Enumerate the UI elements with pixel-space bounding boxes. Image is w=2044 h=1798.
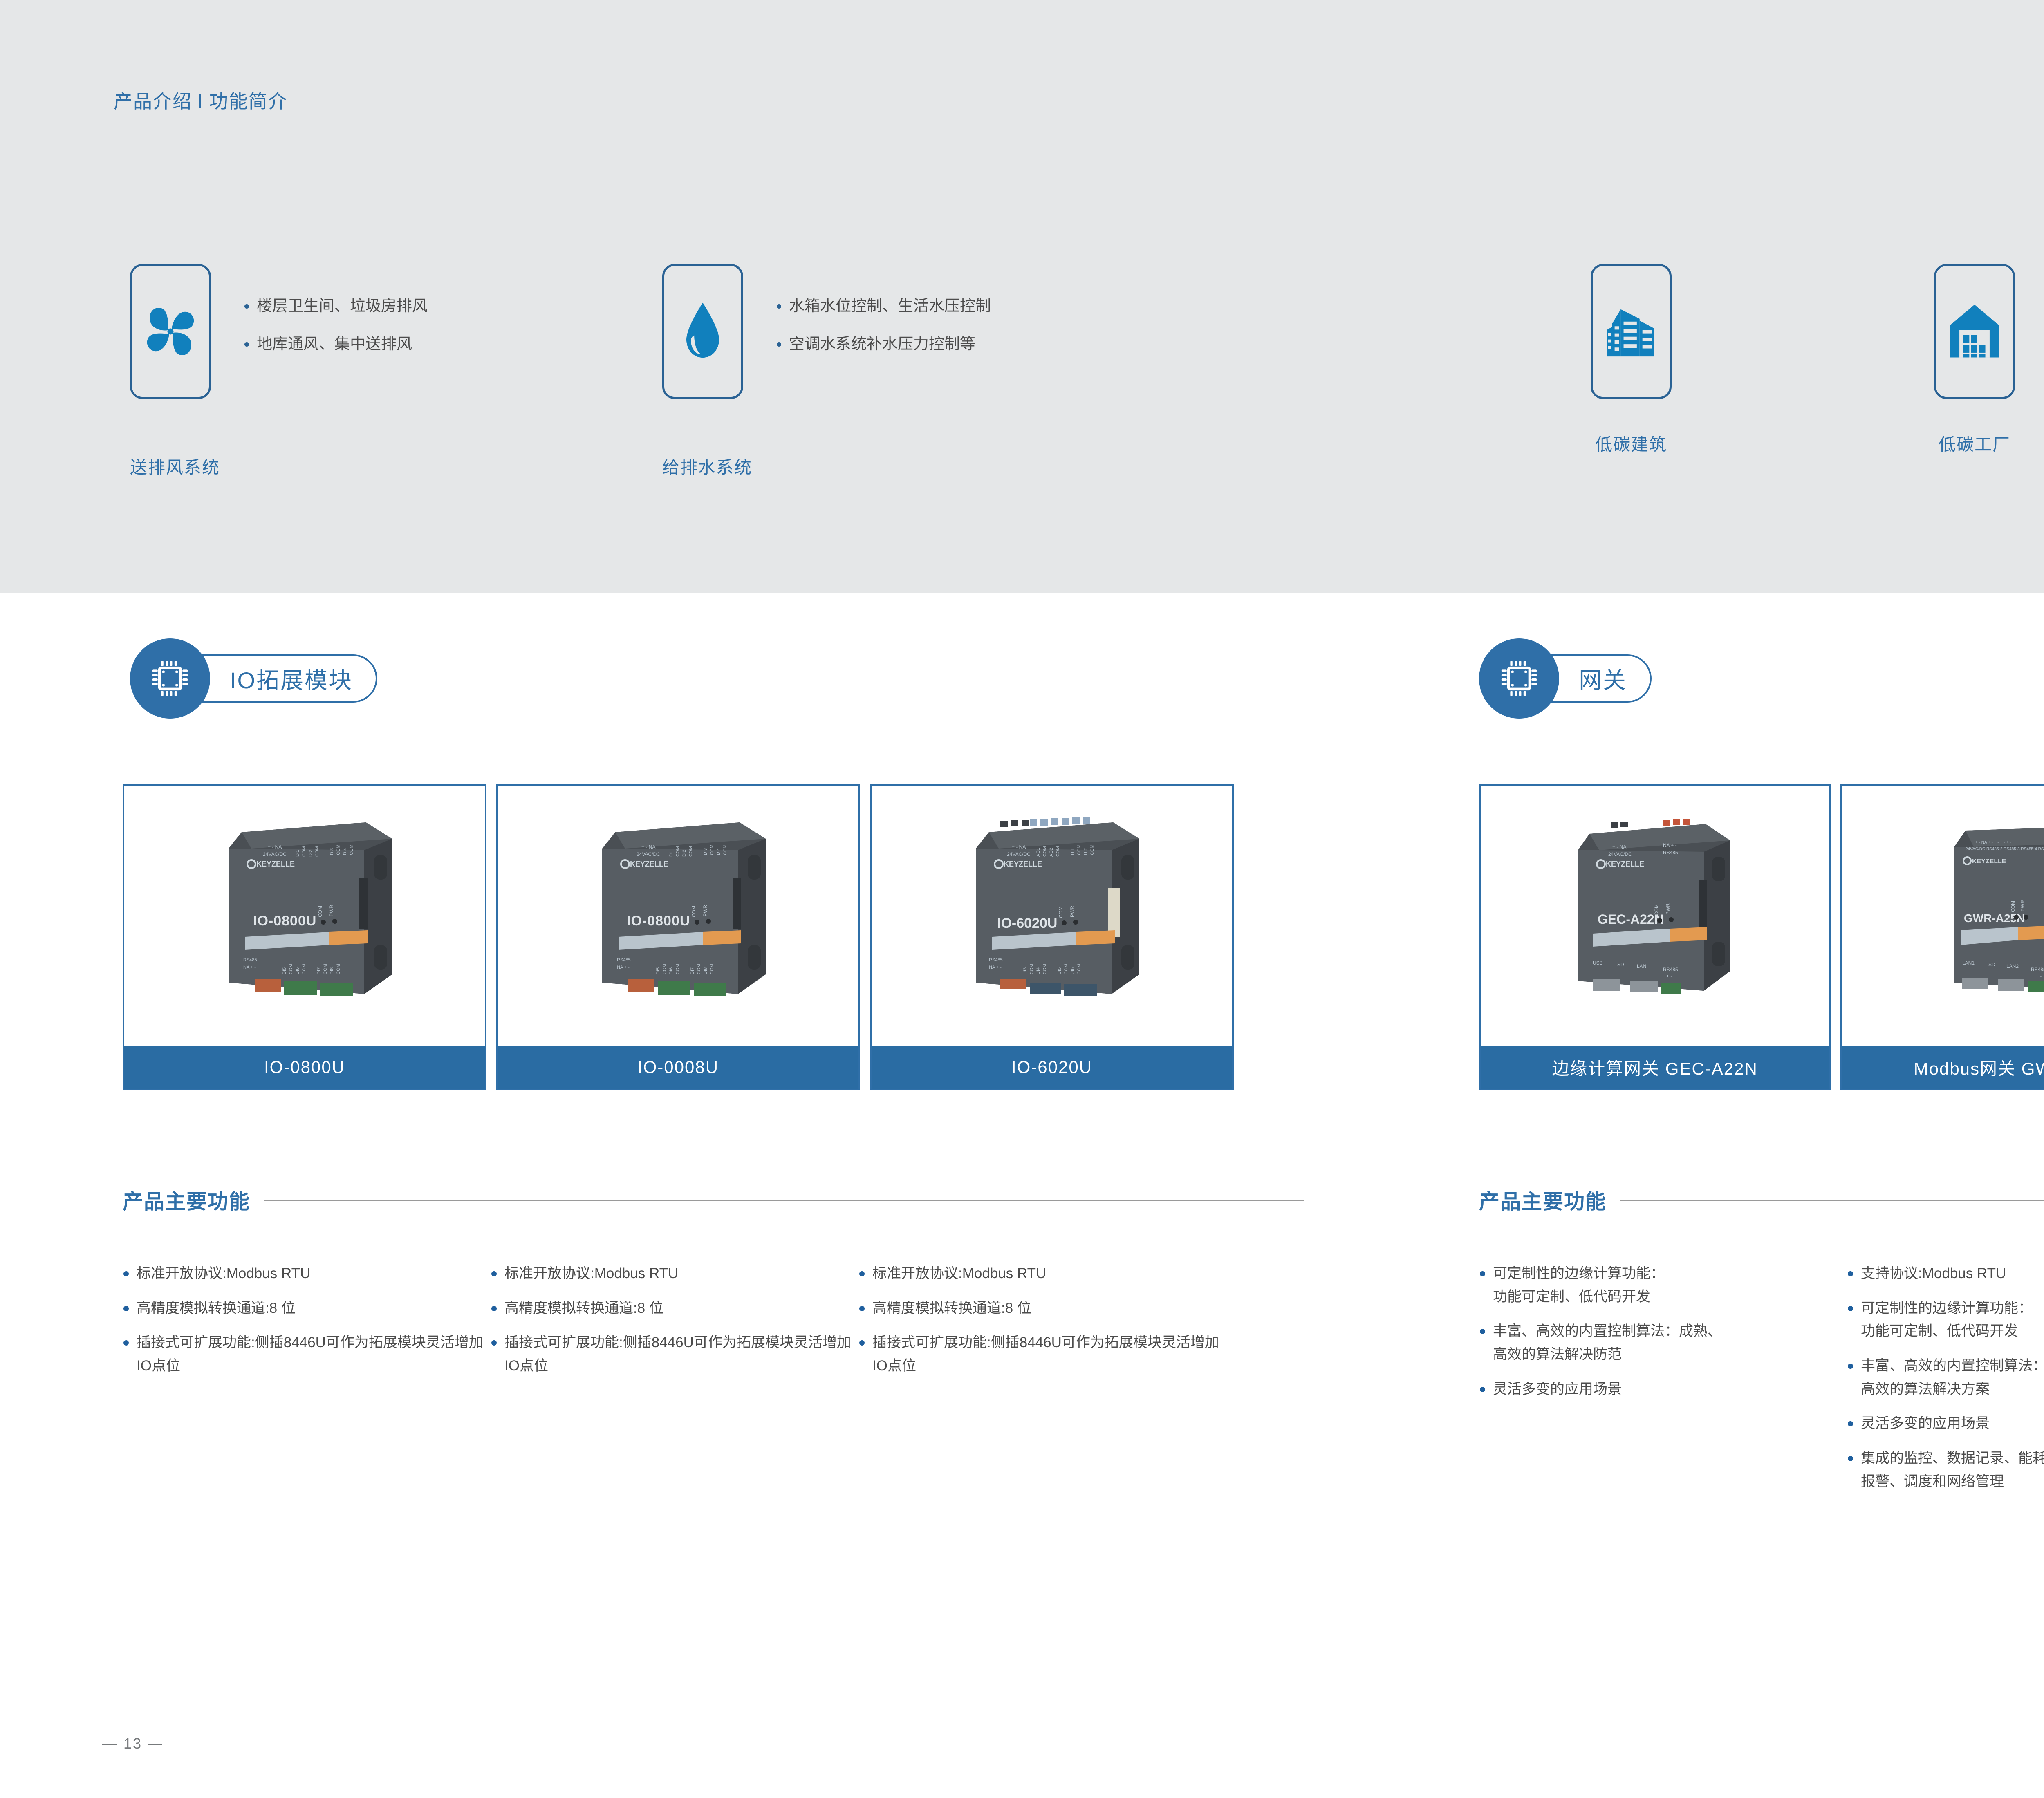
scenario-ventilation: 楼层卫生间、垃圾房排风 地库通风、集中送排风 [130,264,428,399]
svg-text:KEYZELLE: KEYZELLE [1972,858,2006,865]
svg-text:COM: COM [1058,907,1064,918]
product-image: GWR-A25N KEYZELLE + - NA + - + - + - + -… [1842,786,2044,1046]
svg-text:NA + -: NA + - [989,965,1002,970]
svg-text:KEYZELLE: KEYZELLE [256,860,295,868]
svg-text:PWR: PWR [329,905,334,916]
product-card[interactable]: GWR-A25N KEYZELLE + - NA + - + - + - + -… [1840,784,2044,1090]
feature-column: 可定制性的边缘计算功能： 功能可定制、低代码开发 丰富、高效的内置控制算法：成熟… [1479,1262,1847,1505]
product-card[interactable]: IO-0800U KEYZELLE + - NA 24VAC/DC DI1 CO… [496,784,860,1090]
svg-text:COM: COM [302,964,307,974]
svg-text:SD: SD [1988,962,1995,967]
svg-text:COM: COM [336,964,341,974]
feature-line: 可定制性的边缘计算功能： [1861,1300,2033,1316]
target-label: 低碳工厂 [1913,431,2036,456]
svg-text:UI1: UI1 [1070,848,1075,855]
svg-text:+ -: + - [2036,973,2042,979]
svg-text:24VAC/DC: 24VAC/DC [1608,851,1632,857]
gateway-device-illustration: GEC-A22N KEYZELLE + - NA 24VAC/DC NA + -… [1532,801,1777,1030]
list-item: 集成的监控、数据记录、能耗计量、 报警、调度和网络管理 [1847,1447,2044,1493]
product-caption: IO-0008U [498,1046,858,1089]
svg-text:KEYZELLE: KEYZELLE [630,860,668,868]
product-card[interactable]: GEC-A22N KEYZELLE + - NA 24VAC/DC NA + -… [1479,784,1831,1090]
svg-text:AO1: AO1 [1036,848,1041,857]
brochure-spread: 产品介绍 l 功能简介 产品介绍 l 功能简介 楼层卫生间、垃圾房排风 地库通风… [0,0,2044,1798]
svg-text:COM: COM [1654,904,1659,916]
product-image: IO-6020U KEYZELLE + - NA 24VAC/DC AO1 CO… [872,786,1232,1046]
svg-text:RS485: RS485 [1663,850,1678,855]
svg-text:LAN1: LAN1 [1962,960,1975,966]
svg-text:COM: COM [2010,901,2016,912]
svg-text:SD: SD [1617,962,1624,967]
svg-text:24VAC/DC RS485-2 RS485-3 RS485: 24VAC/DC RS485-2 RS485-3 RS485-4 RS485-5 [1966,847,2044,851]
svg-text:RS485: RS485 [1663,967,1678,972]
svg-text:IO-0800U: IO-0800U [253,913,316,929]
list-item: 高精度模拟转换通道:8 位 [491,1297,858,1320]
svg-text:+ -: + - [1666,973,1672,979]
svg-text:NA + -: NA + - [1663,842,1677,848]
chip-icon-circle [1479,638,1559,719]
chip-icon [1497,656,1541,701]
factory-icon-box [1934,264,2015,399]
svg-text:DI4: DI4 [343,848,347,855]
svg-text:UI3: UI3 [1023,967,1028,974]
svg-text:DI7: DI7 [316,967,321,974]
svg-text:DI2: DI2 [682,850,687,857]
svg-text:DI1: DI1 [669,850,674,857]
scenario-water: 水箱水位控制、生活水压控制 空调水系统补水压力控制等 [662,264,991,399]
svg-text:COM: COM [688,846,693,857]
feature-line-cont: 功能可定制、低代码开发 [1861,1320,2044,1343]
chip-icon [148,656,192,701]
feature-line: 丰富、高效的内置控制算法：成熟、 [1493,1323,1722,1339]
svg-text:COM: COM [1064,964,1069,974]
list-item: 水箱水位控制、生活水压控制 [775,296,991,317]
feature-line: 集成的监控、数据记录、能耗计量、 [1861,1450,2044,1466]
svg-text:COM: COM [1056,846,1060,857]
list-item: 丰富、高效的内置控制算法：成熟、 高效的算法解决防范 [1479,1320,1847,1366]
product-image: IO-0800U KEYZELLE + - NA 24VAC/DC DI1 CO… [124,786,485,1046]
svg-text:COM: COM [697,964,702,974]
svg-text:COM: COM [662,964,667,974]
office-building-icon [1602,301,1660,362]
svg-text:UI4: UI4 [1036,967,1041,974]
svg-text:COM: COM [710,844,715,855]
list-item: 标准开放协议:Modbus RTU [858,1262,1226,1285]
water-drop-icon-box [662,264,743,399]
features-title: 产品主要功能 [123,1185,250,1215]
list-item: 灵活多变的应用场景 [1479,1378,1847,1401]
scenario-water-bullets: 水箱水位控制、生活水压控制 空调水系统补水压力控制等 [775,264,991,355]
svg-text:USB: USB [1593,960,1603,966]
svg-text:COM: COM [691,906,697,917]
svg-text:PWR: PWR [702,905,708,916]
list-item: 楼层卫生间、垃圾房排风 [243,296,428,317]
svg-text:DI3: DI3 [329,848,334,855]
features-columns-gateway: 可定制性的边缘计算功能： 功能可定制、低代码开发 丰富、高效的内置控制算法：成熟… [1479,1262,2044,1505]
product-caption: IO-0800U [124,1046,485,1089]
svg-text:COM: COM [710,964,715,974]
svg-text:COM: COM [289,964,294,974]
svg-text:DI2: DI2 [308,850,313,857]
target-low-carbon-building: 低碳建筑 [1570,264,1692,456]
svg-text:UI6: UI6 [1070,967,1075,974]
feature-line: 可定制性的边缘计算功能： [1493,1265,1665,1281]
list-item: 插接式可扩展功能:侧插8446U可作为拓展模块灵活增加IO点位 [858,1331,1226,1377]
svg-text:IO-0800U: IO-0800U [627,913,690,929]
scenario-ventilation-bullets: 楼层卫生间、垃圾房排风 地库通风、集中送排风 [243,264,428,355]
svg-text:UI2: UI2 [1083,848,1088,855]
gateway-device-illustration: GWR-A25N KEYZELLE + - NA + - + - + - + -… [1894,801,2044,1030]
list-item: 插接式可扩展功能:侧插8446U可作为拓展模块灵活增加IO点位 [123,1331,491,1377]
svg-text:NA + -: NA + - [617,965,630,970]
svg-text:DI1: DI1 [295,850,300,857]
feature-column: 标准开放协议:Modbus RTU 高精度模拟转换通道:8 位 插接式可扩展功能… [491,1262,858,1389]
list-item: 丰富、高效的内置控制算法：成熟、 高效的算法解决方案 [1847,1355,2044,1401]
svg-text:+ - NA: + - NA [641,844,655,850]
features-header-io: 产品主要功能 [123,1185,1304,1215]
features-columns-io: 标准开放协议:Modbus RTU 高精度模拟转换通道:8 位 插接式可扩展功能… [123,1262,1308,1389]
svg-text:COM: COM [1042,846,1047,857]
product-caption: 边缘计算网关 GEC-A22N [1481,1046,1829,1089]
svg-text:DI6: DI6 [669,967,674,974]
svg-text:DI5: DI5 [282,967,287,974]
fan-icon [140,301,201,362]
fan-icon-box [130,264,211,399]
page-number-left: — 13 — [102,1735,164,1752]
divider [264,1200,1304,1201]
feature-column: 标准开放协议:Modbus RTU 高精度模拟转换通道:8 位 插接式可扩展功能… [858,1262,1226,1389]
svg-text:DI5: DI5 [656,967,661,974]
svg-text:RS485: RS485 [617,958,631,963]
scenario-water-label: 给排水系统 [662,454,752,479]
svg-text:+ - NA: + - NA [268,844,282,850]
product-caption: Modbus网关 GWR-A25N [1842,1046,2044,1089]
svg-text:UI5: UI5 [1057,967,1062,974]
feature-line-cont: 功能可定制、低代码开发 [1493,1285,1847,1309]
svg-text:RS485: RS485 [989,958,1003,963]
svg-text:LAN: LAN [1637,963,1646,969]
svg-text:24VAC/DC: 24VAC/DC [637,851,660,857]
target-low-carbon-factory: 低碳工厂 [1913,264,2036,456]
product-cards-io: IO-0800U KEYZELLE + - NA 24VAC/DC DI1 CO… [123,784,1234,1090]
list-item: 标准开放协议:Modbus RTU [123,1262,491,1285]
section-badge-io-modules: IO拓展模块 [130,638,377,719]
feature-column: 支持协议:Modbus RTU 可定制性的边缘计算功能： 功能可定制、低代码开发… [1847,1262,2044,1505]
svg-text:PWR: PWR [1665,903,1671,915]
product-card[interactable]: IO-0800U KEYZELLE + - NA 24VAC/DC DI1 CO… [123,784,486,1090]
svg-text:COM: COM [723,844,728,855]
feature-column: 标准开放协议:Modbus RTU 高精度模拟转换通道:8 位 插接式可扩展功能… [123,1262,491,1389]
office-building-icon-box [1591,264,1672,399]
svg-text:COM: COM [1029,964,1034,974]
svg-text:+ - NA: + - NA [1612,844,1626,850]
list-item: 可定制性的边缘计算功能： 功能可定制、低代码开发 [1479,1262,1847,1308]
list-item: 高精度模拟转换通道:8 位 [123,1297,491,1320]
svg-text:KEYZELLE: KEYZELLE [1606,860,1644,868]
svg-text:24VAC/DC: 24VAC/DC [1007,851,1031,857]
product-cards-gateway: GEC-A22N KEYZELLE + - NA 24VAC/DC NA + -… [1479,784,2044,1090]
list-item: 高精度模拟转换通道:8 位 [858,1297,1226,1320]
svg-text:DI7: DI7 [690,967,695,974]
svg-text:COM: COM [675,964,680,974]
svg-text:DI8: DI8 [703,967,708,974]
io-module-device-illustration: IO-0800U KEYZELLE + - NA 24VAC/DC DI1 CO… [551,801,805,1030]
list-item: 插接式可扩展功能:侧插8446U可作为拓展模块灵活增加IO点位 [491,1331,858,1377]
svg-text:AO2: AO2 [1049,848,1054,857]
svg-text:COM: COM [1077,844,1082,855]
svg-text:DI4: DI4 [716,848,721,855]
list-item: 地库通风、集中送排风 [243,334,428,355]
page-header-left: 产品介绍 l 功能简介 [114,87,288,114]
svg-text:COM: COM [315,846,320,857]
svg-text:+ - NA: + - NA [1012,844,1026,850]
section-badge-gateway: 网关 [1479,638,1652,719]
list-item: 标准开放协议:Modbus RTU [491,1262,858,1285]
svg-text:RS485: RS485 [243,958,257,963]
svg-text:DI8: DI8 [329,967,334,974]
svg-text:COM: COM [323,964,328,974]
list-item: 可定制性的边缘计算功能： 功能可定制、低代码开发 [1847,1297,2044,1343]
svg-text:NA + -: NA + - [243,965,256,970]
product-caption: IO-6020U [872,1046,1232,1089]
section-badge-label: IO拓展模块 [230,662,353,695]
svg-text:COM: COM [349,844,354,855]
features-header-gateway: 产品主要功能 [1479,1185,2044,1215]
chip-icon-circle [130,638,210,719]
features-title: 产品主要功能 [1479,1185,1607,1215]
product-card[interactable]: IO-6020U KEYZELLE + - NA 24VAC/DC AO1 CO… [870,784,1234,1090]
divider [1620,1200,2044,1201]
feature-line-cont: 报警、调度和网络管理 [1861,1470,2044,1493]
svg-text:COM: COM [1090,844,1095,855]
list-item: 灵活多变的应用场景 [1847,1412,2044,1435]
feature-line-cont: 高效的算法解决防范 [1493,1343,1847,1366]
target-label: 低碳建筑 [1570,431,1692,456]
water-drop-icon [676,299,729,364]
svg-text:KEYZELLE: KEYZELLE [1004,860,1042,868]
io-module-device-illustration: IO-6020U KEYZELLE + - NA 24VAC/DC AO1 CO… [925,801,1179,1030]
svg-text:COM: COM [302,846,307,857]
svg-text:COM: COM [1042,964,1047,974]
section-badge-label: 网关 [1579,662,1627,695]
svg-text:PWR: PWR [1069,906,1075,917]
svg-text:24VAC/DC: 24VAC/DC [263,851,287,857]
product-image: GEC-A22N KEYZELLE + - NA 24VAC/DC NA + -… [1481,786,1829,1046]
svg-text:COM: COM [336,844,341,855]
product-image: IO-0800U KEYZELLE + - NA 24VAC/DC DI1 CO… [498,786,858,1046]
scenario-ventilation-label: 送排风系统 [130,454,220,479]
svg-text:DI3: DI3 [703,848,708,855]
svg-text:COM: COM [1077,964,1082,974]
svg-text:PWR: PWR [2020,900,2026,911]
factory-icon [1946,301,2003,362]
svg-text:LAN2: LAN2 [2006,963,2019,969]
list-item: 支持协议:Modbus RTU [1847,1262,2044,1285]
svg-text:RS485-1: RS485-1 [2031,967,2044,972]
svg-text:+ - NA + - + - + -: + - NA + - + - + - + - [1975,840,2011,845]
feature-line-cont: 高效的算法解决方案 [1861,1378,2044,1401]
svg-text:COM: COM [317,906,323,917]
feature-line: 丰富、高效的内置控制算法：成熟、 [1861,1358,2044,1374]
svg-text:COM: COM [675,846,680,857]
list-item: 空调水系统补水压力控制等 [775,334,991,355]
io-module-device-illustration: IO-0800U KEYZELLE + - NA 24VAC/DC DI1 CO… [178,801,431,1030]
svg-text:IO-6020U: IO-6020U [997,916,1057,931]
svg-text:DI6: DI6 [295,967,300,974]
